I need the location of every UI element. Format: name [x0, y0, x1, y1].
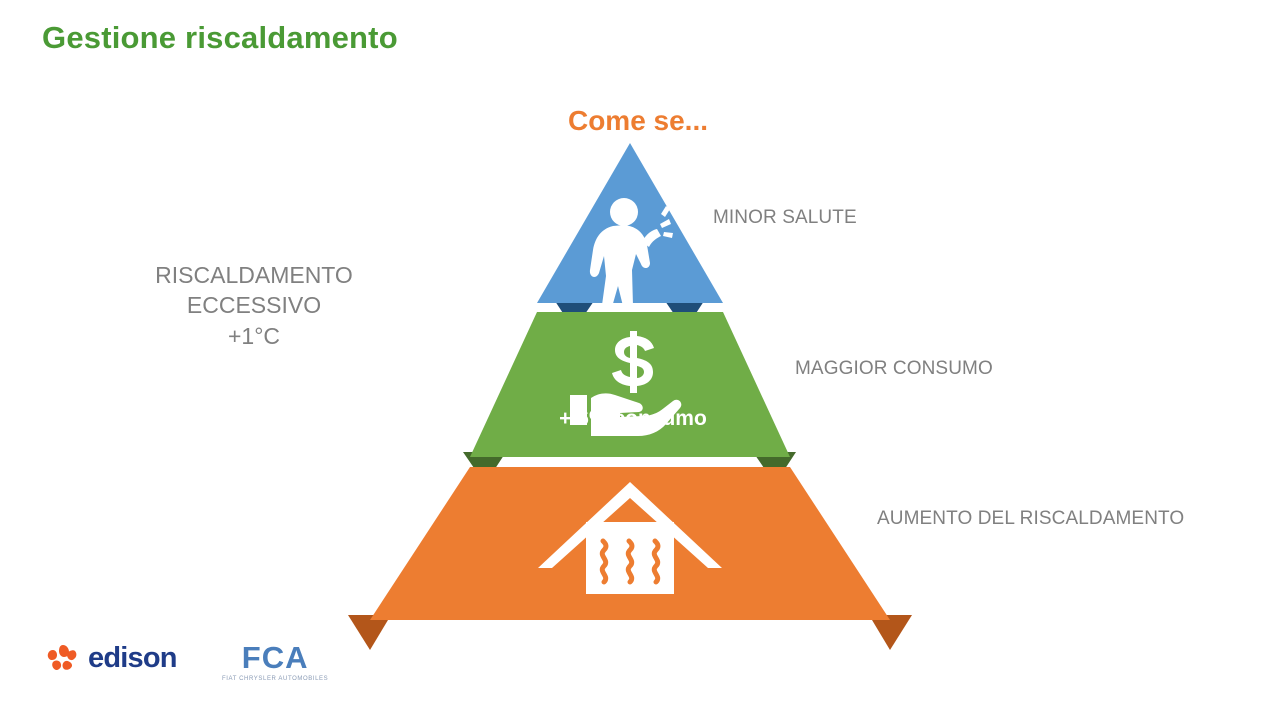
pyramid-level-top[interactable]: [537, 143, 723, 312]
level-middle-inner-text: + 6% consumo: [508, 407, 758, 431]
slide-canvas: Gestione riscaldamento Come se... RISCAL…: [0, 0, 1280, 720]
pyramid-level-middle[interactable]: [470, 312, 790, 457]
fca-logo: FCA FIAT CHRYSLER AUTOMOBILES: [222, 642, 328, 682]
level-top-label: MINOR SALUTE: [713, 207, 857, 229]
fca-tagline: FIAT CHRYSLER AUTOMOBILES: [222, 676, 328, 682]
level-bottom-shadow-tabs: [348, 615, 912, 650]
edison-pinwheel-icon: [44, 640, 84, 676]
pyramid-level-bottom[interactable]: [370, 467, 890, 620]
fca-wordmark: FCA: [222, 642, 328, 673]
edison-logo: edison: [44, 640, 177, 676]
level-middle-label: MAGGIOR CONSUMO: [795, 358, 993, 380]
edison-wordmark: edison: [88, 644, 177, 673]
level-bottom-label: AUMENTO DEL RISCALDAMENTO: [877, 508, 1184, 530]
page-title: Gestione riscaldamento: [42, 20, 398, 56]
